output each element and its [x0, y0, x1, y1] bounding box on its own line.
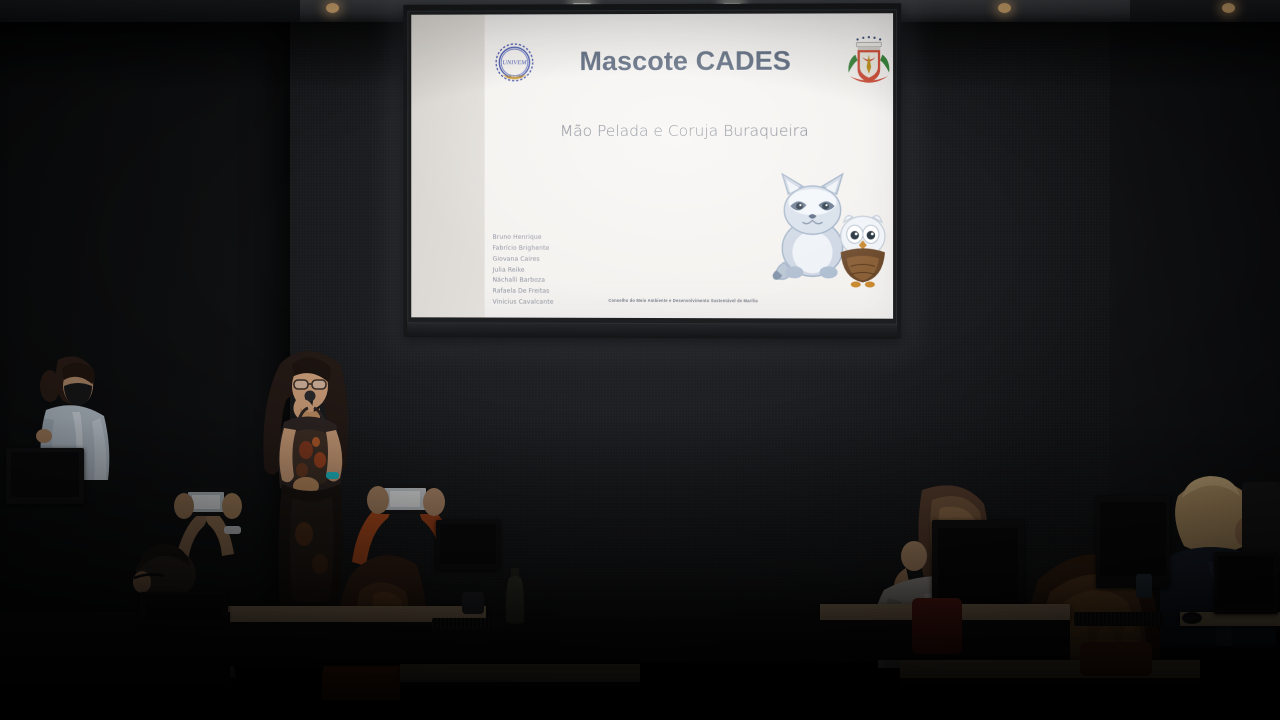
presentation-slide: UNIVEM MEV/FM M: [411, 13, 893, 318]
slide-title: Mascote CADES: [560, 46, 810, 78]
svg-text:UNIVEM: UNIVEM: [502, 59, 527, 66]
floor-shadow: [0, 570, 1280, 720]
svg-text:MEV/FM: MEV/FM: [506, 74, 523, 79]
monitor: [6, 448, 84, 504]
auditorium-photo: UNIVEM MEV/FM M: [0, 0, 1280, 720]
owl-icon: [841, 216, 885, 288]
author-name: Bruno Henrique: [493, 233, 554, 244]
screen-bottom-bar: [407, 323, 897, 339]
author-name: Giovana Caires: [493, 254, 554, 265]
ceiling-right-shadow: [1130, 0, 1280, 22]
slide-subtitle: Mão Pelada e Coruja Buraqueira: [485, 122, 885, 140]
author-name: Rafaela De Freitas: [493, 287, 554, 298]
ceiling-light-icon: [326, 3, 339, 13]
marilia-coat-of-arms-icon: [841, 34, 893, 90]
univem-logo-icon: UNIVEM MEV/FM: [492, 40, 538, 86]
ceiling-light-icon: [998, 3, 1011, 13]
slide-left-margin-band: [411, 15, 484, 318]
author-name: Julia Reike: [493, 265, 554, 276]
mascot-illustration: [770, 166, 891, 289]
monitor: [436, 520, 500, 570]
raccoon-icon: [773, 174, 843, 280]
slide-footer-note: Conselho do Meio Ambiente e Desenvolvime…: [485, 298, 883, 304]
projection-screen: UNIVEM MEV/FM M: [403, 3, 901, 339]
author-name: Náchalli Barboza: [493, 276, 554, 287]
ceiling-light-icon: [1222, 3, 1235, 13]
ceiling-left-shadow: [0, 0, 300, 22]
author-name: Fabrício Brighente: [493, 244, 554, 255]
